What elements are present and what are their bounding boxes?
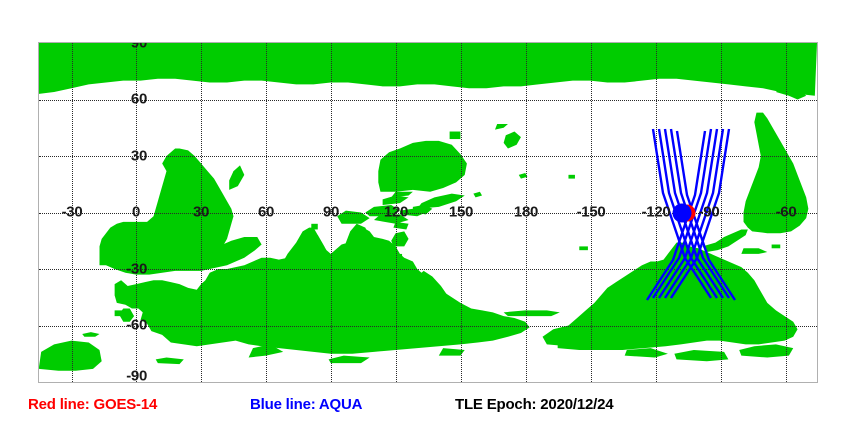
lat-tick--90: -90 <box>126 368 147 383</box>
legend-bar: Red line: GOES-14 Blue line: AQUA TLE Ep… <box>0 393 850 425</box>
legend-blue-line: Blue line: AQUA <box>250 396 362 413</box>
legend-red-line: Red line: GOES-14 <box>28 396 157 413</box>
lon-tick-120: 120 <box>384 204 408 221</box>
lon-tick--120: -120 <box>642 204 671 221</box>
lon-tick--60: -60 <box>776 204 797 221</box>
lon-tick--30: -30 <box>62 204 83 221</box>
lon-tick-180: 180 <box>514 204 538 221</box>
lat-tick-90: 90 <box>131 43 147 52</box>
lat-tick--30: -30 <box>126 261 147 278</box>
lon-tick-0: 0 <box>132 204 140 221</box>
lon-tick--90: -90 <box>699 204 720 221</box>
aqua-marker <box>673 204 692 223</box>
world-map-plot: -30 0 30 60 90 120 150 180 -150 -120 -90… <box>38 42 818 383</box>
lon-tick-30: 30 <box>193 204 209 221</box>
lat-tick-60: 60 <box>131 91 147 108</box>
lon-tick-60: 60 <box>258 204 274 221</box>
legend-tle-epoch: TLE Epoch: 2020/12/24 <box>455 396 613 413</box>
lon-tick-150: 150 <box>449 204 473 221</box>
map-clip-area: -30 0 30 60 90 120 150 180 -150 -120 -90… <box>39 43 817 382</box>
lon-tick-90: 90 <box>323 204 339 221</box>
lon-tick--150: -150 <box>577 204 606 221</box>
lat-tick--60: -60 <box>126 317 147 334</box>
lat-tick-30: 30 <box>131 148 147 165</box>
